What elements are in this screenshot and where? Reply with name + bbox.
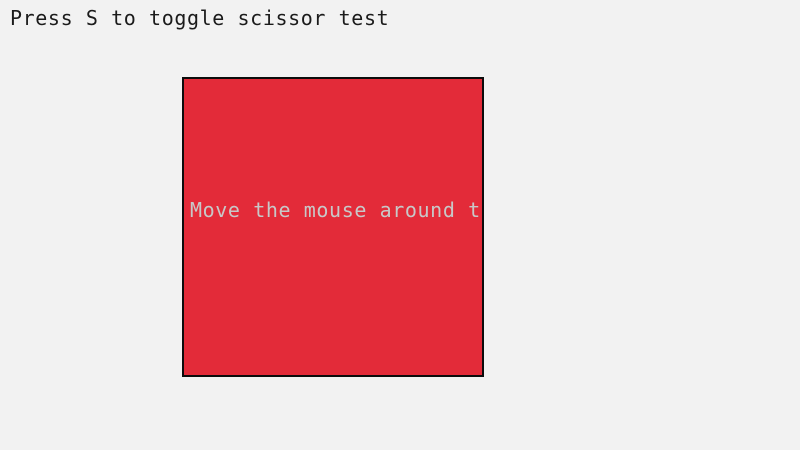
scissor-rectangle[interactable]: Move the mouse around to reveal this tex…	[182, 77, 484, 377]
app-window: Press S to toggle scissor test Move the …	[0, 0, 800, 450]
scissor-clipped-text: Move the mouse around to reveal this tex…	[190, 200, 484, 220]
scissor-toggle-hint: Press S to toggle scissor test	[10, 8, 389, 28]
